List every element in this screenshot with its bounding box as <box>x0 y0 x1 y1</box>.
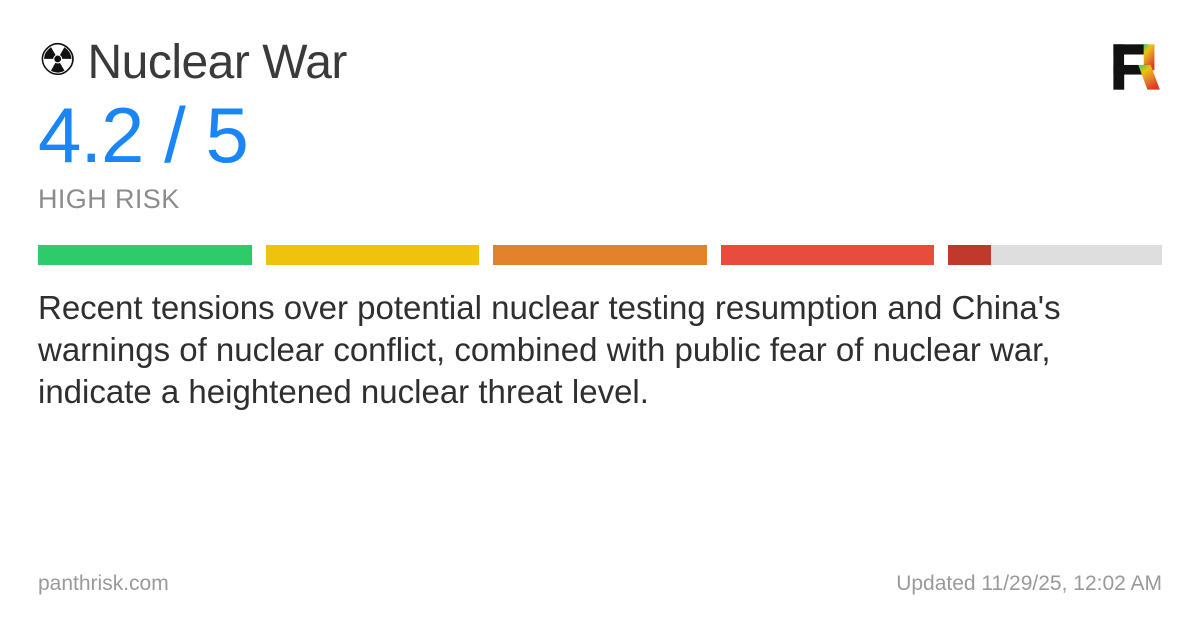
meter-segment-fill <box>38 245 252 265</box>
meter-segment-fill <box>493 245 707 265</box>
meter-segment-fill <box>721 245 935 265</box>
radiation-symbol-icon: ☢ <box>38 39 77 83</box>
page-title: Nuclear War <box>87 38 346 88</box>
header: ☢ Nuclear War <box>38 38 1162 94</box>
footer: panthrisk.com Updated 11/29/25, 12:02 AM <box>38 572 1162 596</box>
summary-text: Recent tensions over potential nuclear t… <box>38 287 1162 414</box>
risk-level-label: HIGH RISK <box>38 184 1162 215</box>
meter-segment-5-severe <box>948 245 1162 265</box>
panthrisk-logo-icon[interactable] <box>1108 40 1162 94</box>
meter-segment-fill <box>948 245 991 265</box>
meter-segment-1-low <box>38 245 252 265</box>
score-block: 4.2 / 5 HIGH RISK <box>38 96 1162 215</box>
meter-segment-4-high <box>721 245 935 265</box>
site-name[interactable]: panthrisk.com <box>38 572 169 596</box>
updated-timestamp: Updated 11/29/25, 12:02 AM <box>896 572 1162 596</box>
meter-segment-2-moderate <box>266 245 480 265</box>
score-value: 4.2 / 5 <box>38 96 1162 174</box>
title-block: ☢ Nuclear War <box>38 38 347 88</box>
meter-segment-3-elevated <box>493 245 707 265</box>
risk-card: ☢ Nuclear War <box>0 0 1200 630</box>
risk-meter <box>38 245 1162 265</box>
meter-segment-fill <box>266 245 480 265</box>
